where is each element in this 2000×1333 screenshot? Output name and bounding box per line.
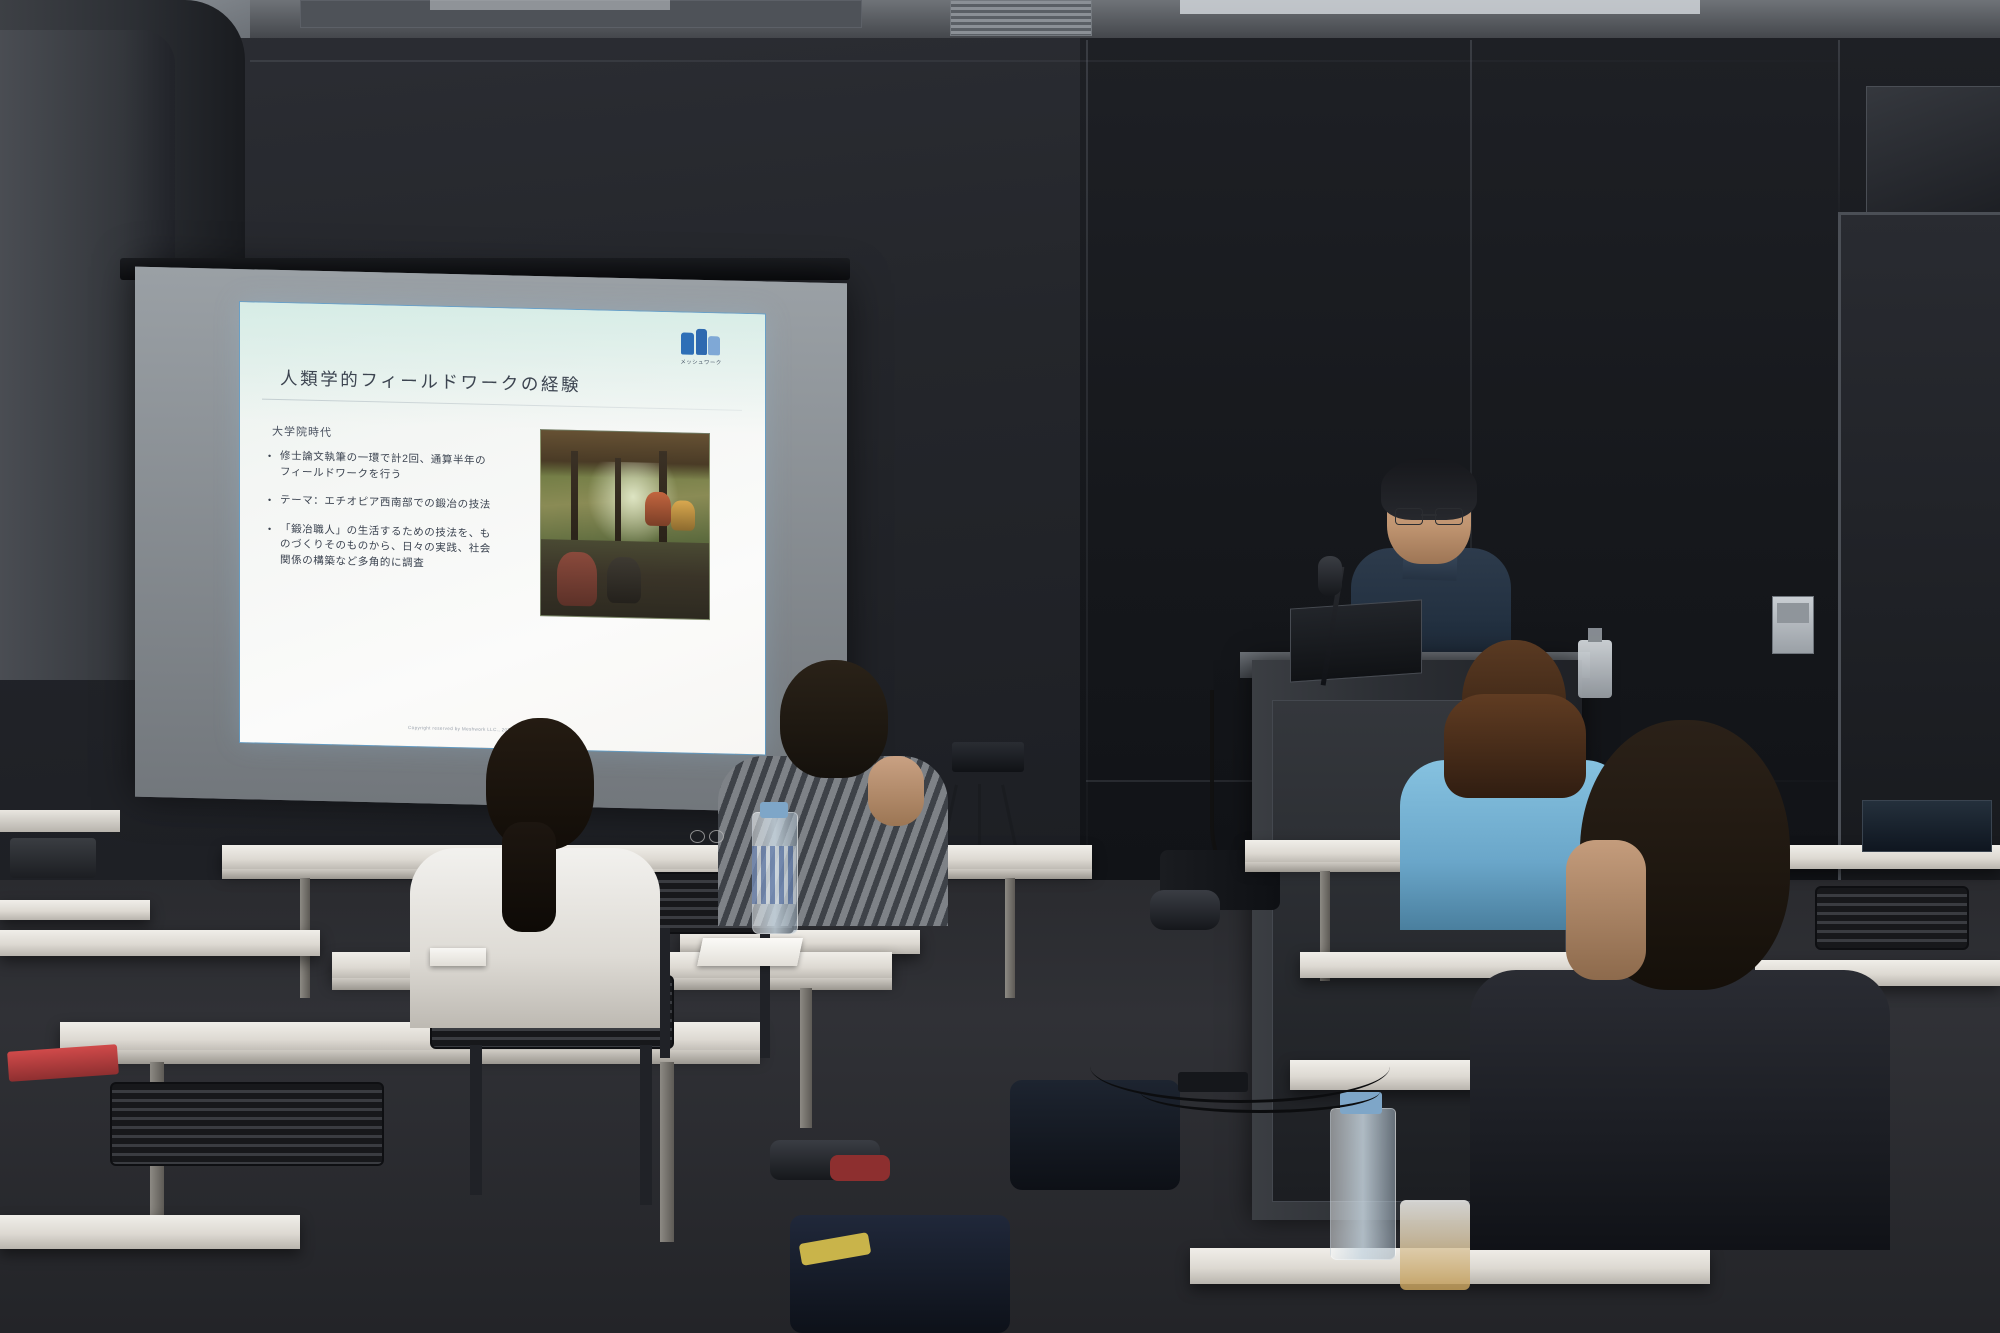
drink-cup — [1400, 1200, 1470, 1290]
presenter-glasses-icon — [1395, 508, 1463, 524]
notebook-on-desk — [697, 938, 803, 966]
audience-head — [780, 660, 888, 778]
projected-slide: メッシュワーク 人類学的フィールドワークの経験 大学院時代 • 修士論文執筆の一… — [240, 302, 765, 754]
chair-leg — [470, 1045, 482, 1195]
power-strip — [1178, 1072, 1248, 1092]
photo-person — [607, 557, 641, 604]
photo-person — [645, 492, 671, 527]
desk-leg — [660, 1062, 674, 1242]
backpack-on-floor — [790, 1215, 1010, 1333]
slide-bullet-list: • 修士論文執筆の一環で計2回、通算半年の フィールドワークを行う • テーマ：… — [268, 449, 538, 587]
slide-bullet-item: • テーマ：エチオピア西南部での鍛冶の技法 — [268, 493, 538, 515]
lecture-room-photo: メッシュワーク 人類学的フィールドワークの経験 大学院時代 • 修士論文執筆の一… — [0, 0, 2000, 1333]
wall-control-panel[interactable] — [1772, 596, 1814, 654]
audience-ear-area — [1566, 840, 1646, 980]
bottle-cap — [760, 802, 788, 818]
ceiling-vent — [950, 0, 1092, 36]
audience-member-ponytail — [410, 718, 660, 1018]
water-bottle — [1330, 1108, 1396, 1260]
side-table — [0, 900, 150, 920]
projector-table — [0, 810, 120, 832]
wall-seam — [250, 60, 1840, 62]
wall-seam — [1838, 40, 1840, 220]
bullet-line: テーマ：エチオピア西南部での鍛冶の技法 — [280, 493, 491, 513]
bullet-line: 「鍛冶職人」の生活するための技法を、も — [280, 523, 491, 540]
bullet-marker-icon: • — [268, 493, 280, 509]
bullet-line: のづくりそのものから、日々の実践、社会 — [280, 538, 491, 555]
projector-unit — [10, 838, 96, 878]
slide-bullet-item: • 「鍛冶職人」の生活するための技法を、も のづくりそのものから、日々の実践、社… — [268, 521, 538, 574]
chair-leg — [640, 1045, 652, 1205]
paper-on-desk — [430, 948, 486, 966]
audience-ponytail — [502, 822, 556, 932]
bullet-line: 修士論文執筆の一環で計2回、通算半年の — [280, 450, 486, 467]
desk-edge — [60, 1050, 760, 1064]
desk-left-edge — [0, 930, 320, 956]
floor-cable — [1140, 1070, 1380, 1113]
audience-arm — [868, 756, 924, 826]
shoe-accent — [830, 1155, 890, 1181]
bullet-marker-icon: • — [268, 521, 280, 568]
chair-back[interactable] — [110, 1082, 380, 1162]
slide-bullet-item: • 修士論文執筆の一環で計2回、通算半年の フィールドワークを行う — [268, 449, 538, 486]
logo-mark-icon — [681, 328, 721, 355]
slide-photo — [540, 429, 710, 620]
audience-member-foreground — [1470, 720, 1890, 1240]
desk-leg — [800, 988, 812, 1128]
presenter-shoe — [1150, 890, 1220, 930]
logo-text: メッシュワーク — [673, 357, 729, 366]
bullet-marker-icon: • — [268, 449, 280, 480]
photo-person — [557, 552, 597, 607]
eyeglasses-on-desk — [690, 830, 724, 842]
desk-foreground-left — [0, 1215, 300, 1249]
photo-person — [671, 500, 695, 531]
meshwork-logo: メッシュワーク — [673, 328, 729, 375]
slide-section-heading: 大学院時代 — [272, 423, 332, 440]
chair-leg — [660, 928, 670, 1058]
ceiling-light — [430, 0, 670, 10]
desk-leg — [1005, 878, 1015, 998]
ceiling-light — [1180, 0, 1700, 14]
bullet-line: フィールドワークを行う — [280, 466, 402, 481]
bullet-line: 関係の構築など多角的に調査 — [280, 554, 424, 569]
bottle-sleeve — [752, 846, 796, 904]
wall-seam — [1086, 40, 1088, 900]
wall-speaker — [1866, 86, 2000, 216]
audience-body — [1470, 970, 1890, 1250]
microphone-icon — [1318, 556, 1342, 596]
